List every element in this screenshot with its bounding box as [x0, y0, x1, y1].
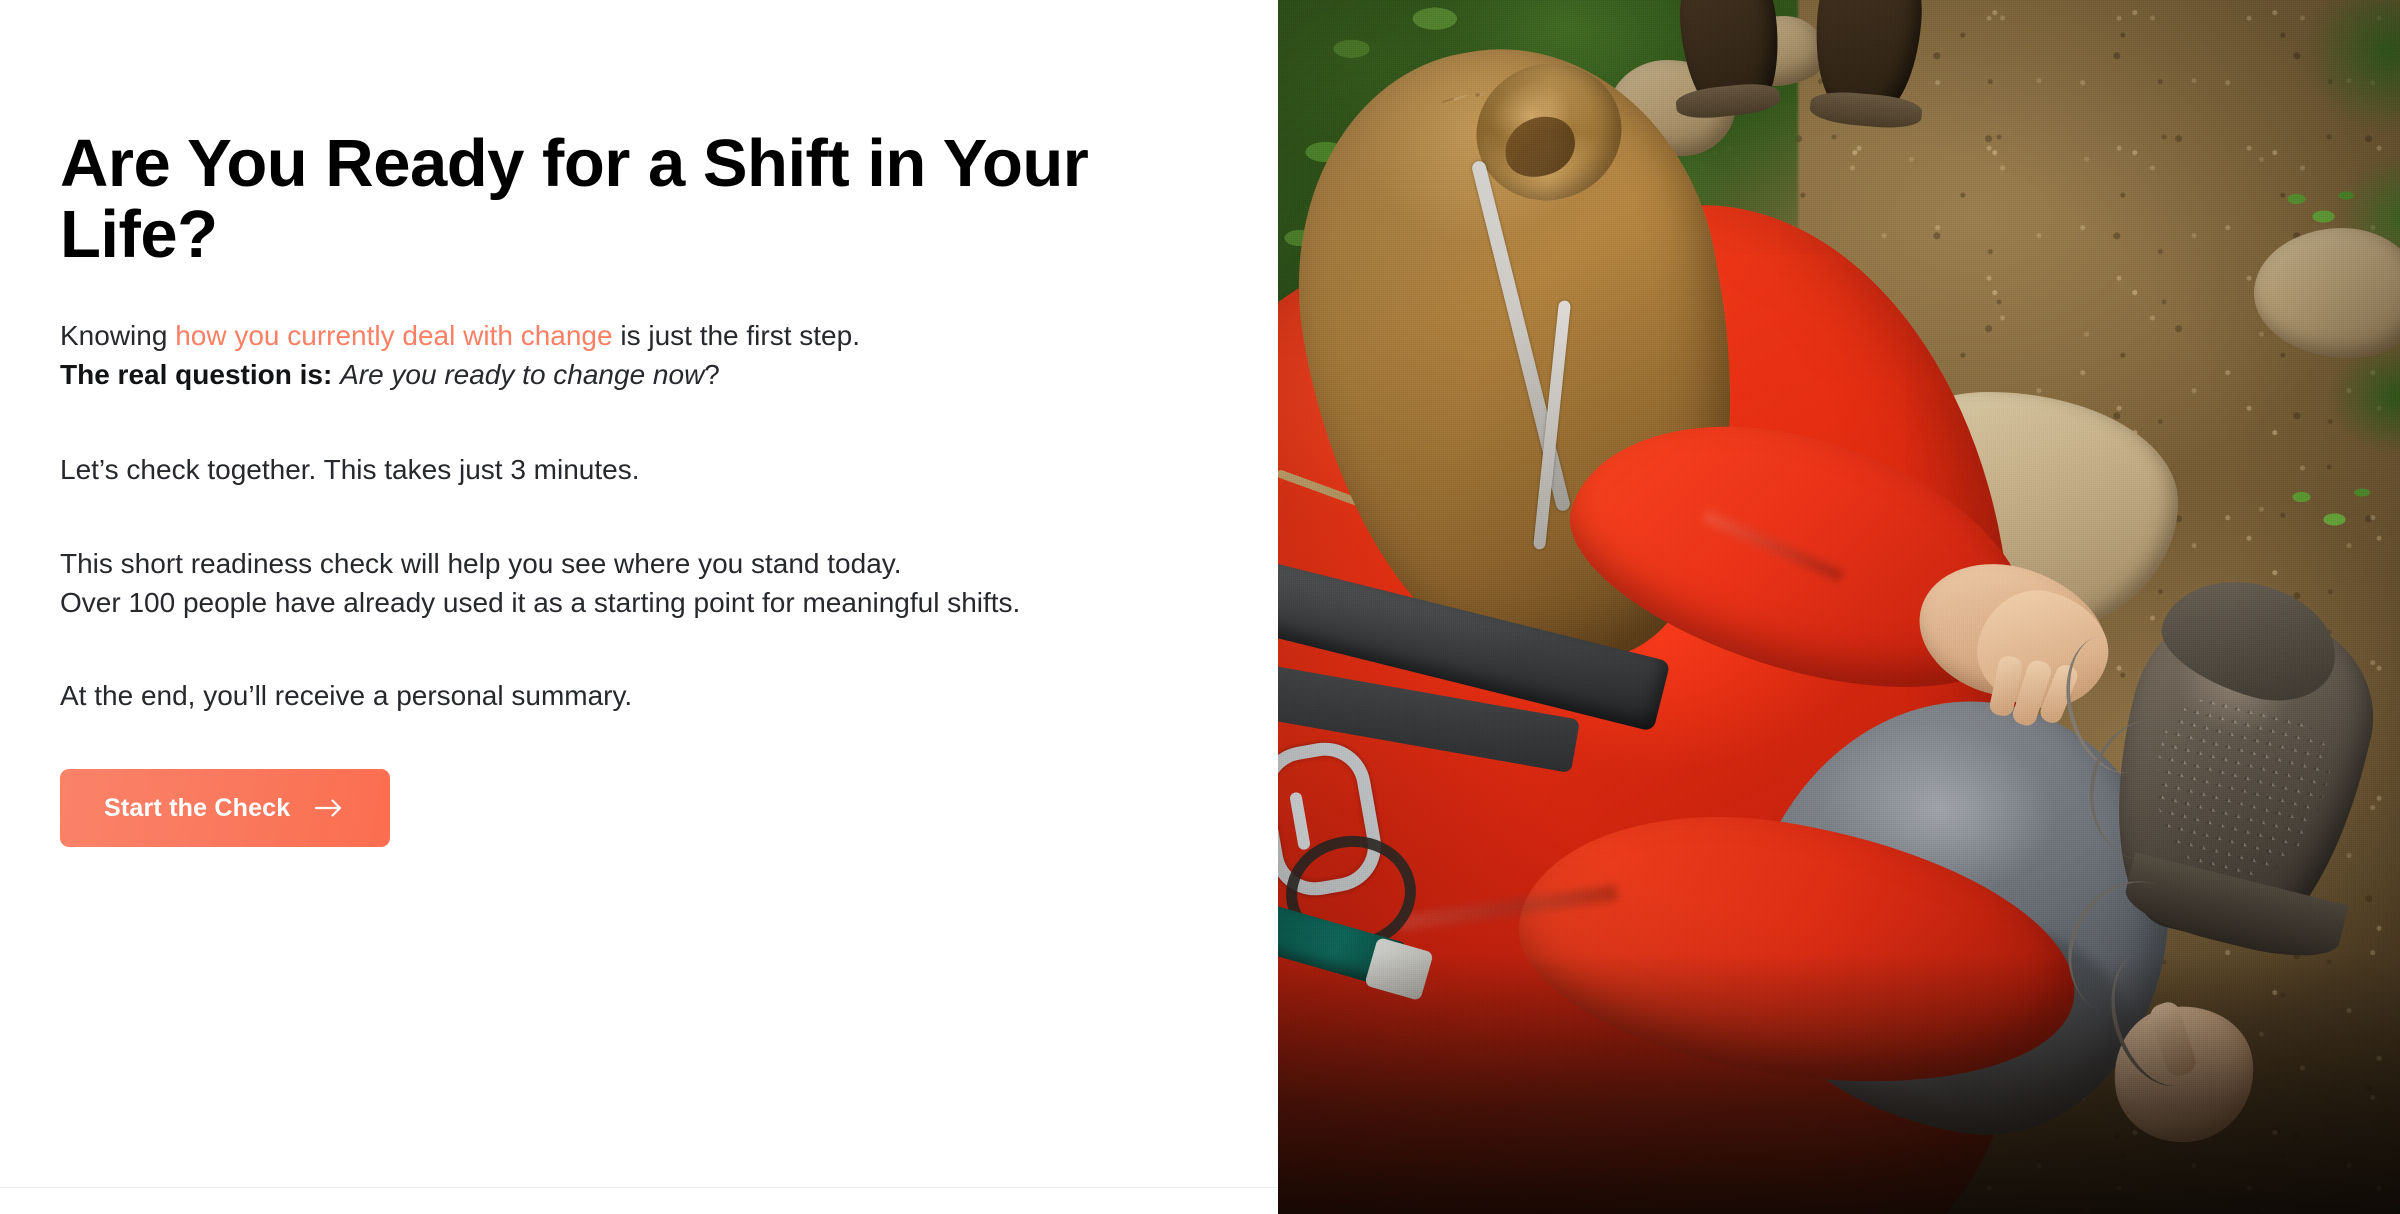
- summary-line: At the end, you’ll receive a personal su…: [60, 676, 1208, 715]
- accent-phrase: how you currently deal with change: [175, 320, 612, 351]
- hero-photo: [1278, 0, 2400, 1214]
- real-question-lead: The real question is:: [60, 359, 332, 390]
- hero-body-copy: Knowing how you currently deal with chan…: [60, 316, 1208, 715]
- arrow-right-icon: [314, 795, 344, 821]
- real-question-line: The real question is: Are you ready to c…: [60, 355, 1208, 394]
- start-the-check-button[interactable]: Start the Check: [60, 769, 390, 847]
- intro-sentence: Knowing how you currently deal with chan…: [60, 316, 1208, 355]
- landing-page: Are You Ready for a Shift in Your Life? …: [0, 0, 2400, 1214]
- cta-container: Start the Check: [60, 769, 1208, 847]
- paragraph-gap-2: [60, 490, 1208, 544]
- real-question-mark: ?: [704, 359, 720, 390]
- intro-prefix: Knowing: [60, 320, 175, 351]
- space-sep: [332, 359, 340, 390]
- real-question-italic: Are you ready to change now: [340, 359, 704, 390]
- photo-grain: [1278, 0, 2400, 1214]
- cta-label: Start the Check: [104, 796, 290, 821]
- description-line-2: Over 100 people have already used it as …: [60, 583, 1208, 622]
- paragraph-gap-3: [60, 622, 1208, 676]
- bottom-divider: [0, 1187, 1278, 1188]
- page-title: Are You Ready for a Shift in Your Life?: [60, 128, 1200, 270]
- photo-scene: [1278, 0, 2400, 1214]
- duration-line: Let’s check together. This takes just 3 …: [60, 450, 1208, 489]
- description-line-1: This short readiness check will help you…: [60, 544, 1208, 583]
- intro-suffix: is just the first step.: [613, 320, 860, 351]
- paragraph-gap-1: [60, 394, 1208, 450]
- hero-content-pane: Are You Ready for a Shift in Your Life? …: [0, 0, 1278, 1214]
